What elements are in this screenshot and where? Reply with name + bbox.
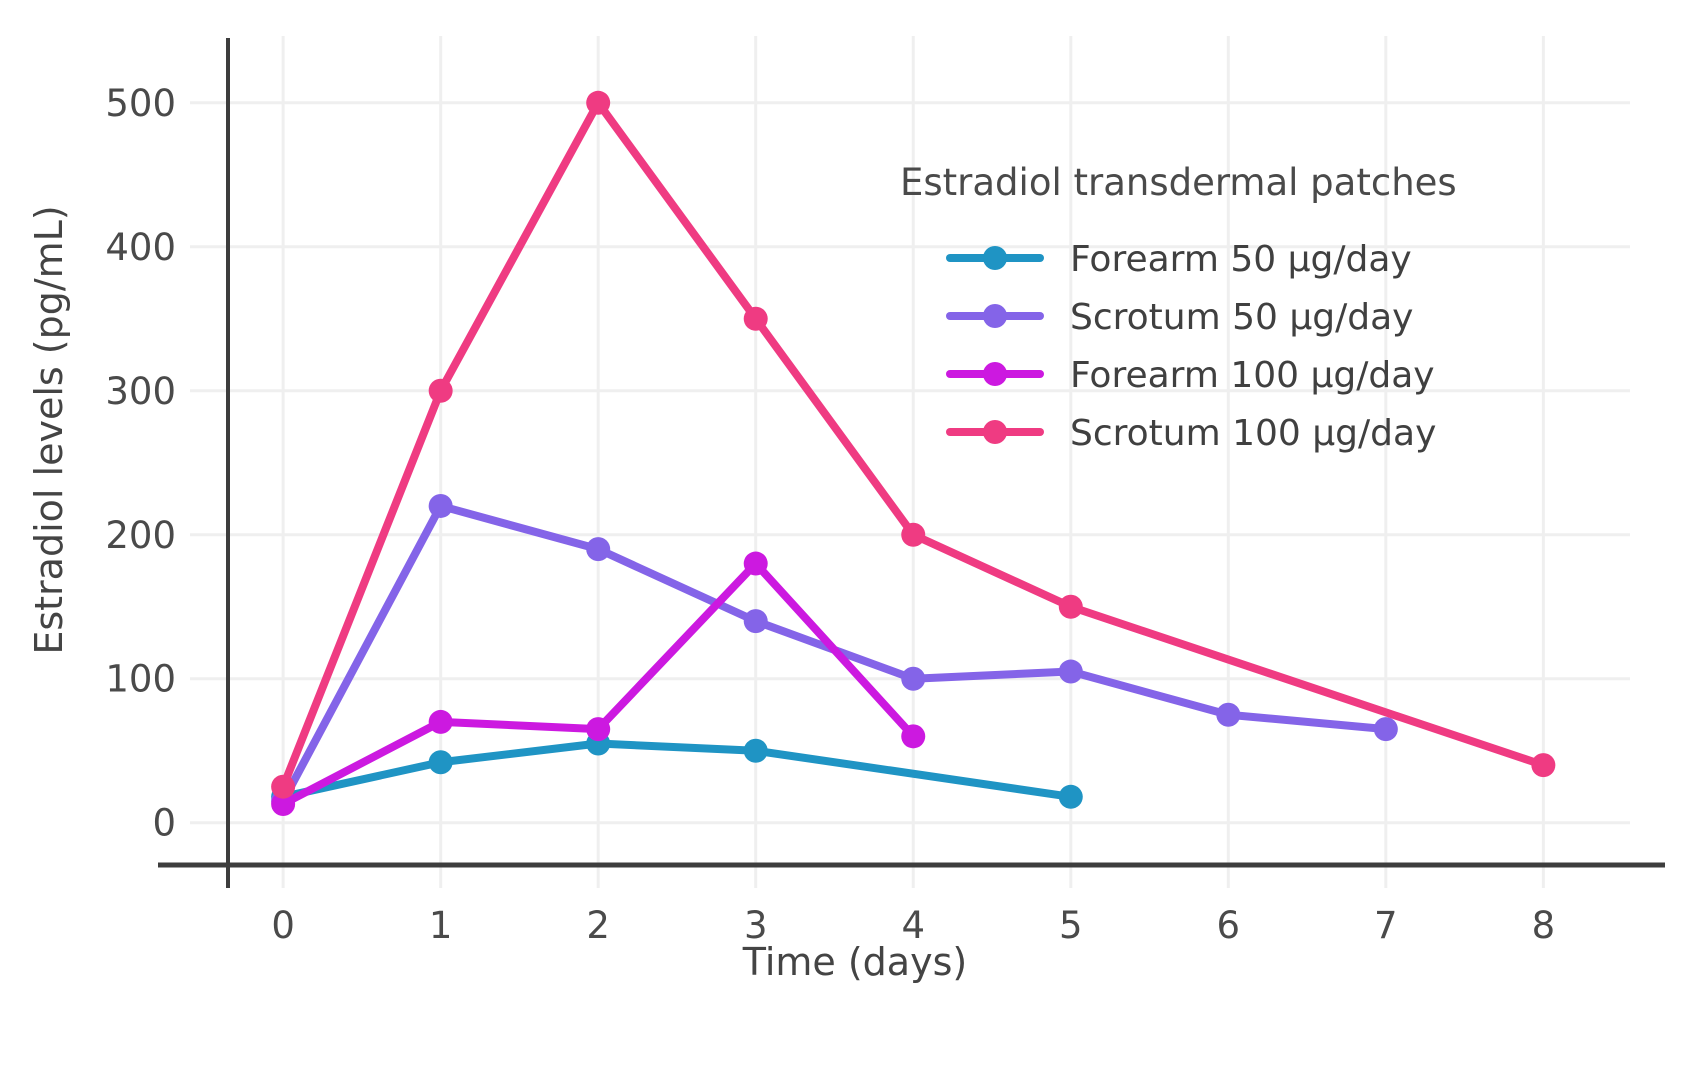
x-tick-label: 8 bbox=[1532, 904, 1556, 947]
data-point[interactable] bbox=[429, 710, 453, 734]
data-point[interactable] bbox=[1531, 753, 1555, 777]
data-point[interactable] bbox=[1216, 703, 1240, 727]
chart-figure: 0100200300400500 012345678 Estradiol lev… bbox=[0, 0, 1681, 1090]
data-point[interactable] bbox=[1374, 717, 1398, 741]
data-point[interactable] bbox=[586, 537, 610, 561]
legend-label[interactable]: Forearm 50 µg/day bbox=[1070, 239, 1412, 280]
legend: Estradiol transdermal patches Forearm 50… bbox=[900, 161, 1457, 454]
data-point[interactable] bbox=[586, 717, 610, 741]
y-tick-label: 0 bbox=[152, 802, 176, 845]
data-point[interactable] bbox=[429, 750, 453, 774]
data-point[interactable] bbox=[744, 552, 768, 576]
legend-swatch-marker bbox=[983, 420, 1007, 444]
y-tick-label: 300 bbox=[105, 370, 176, 413]
y-tick-label: 500 bbox=[105, 82, 176, 125]
legend-label[interactable]: Forearm 100 µg/day bbox=[1070, 355, 1435, 396]
data-point[interactable] bbox=[901, 667, 925, 691]
legend-swatch-marker bbox=[983, 362, 1007, 386]
legend-label[interactable]: Scrotum 100 µg/day bbox=[1070, 413, 1436, 454]
y-tick-label: 100 bbox=[105, 658, 176, 701]
y-axis-title: Estradiol levels (pg/mL) bbox=[27, 205, 71, 654]
x-axis-title: Time (days) bbox=[742, 940, 967, 984]
data-point[interactable] bbox=[271, 775, 295, 799]
y-tick-label: 200 bbox=[105, 514, 176, 557]
data-point[interactable] bbox=[1059, 660, 1083, 684]
legend-swatch-marker bbox=[983, 246, 1007, 270]
data-point[interactable] bbox=[744, 307, 768, 331]
y-tick-labels: 0100200300400500 bbox=[105, 82, 176, 845]
series-line bbox=[283, 744, 1071, 797]
x-tick-label: 2 bbox=[586, 904, 610, 947]
data-point[interactable] bbox=[744, 609, 768, 633]
x-tick-label: 1 bbox=[429, 904, 453, 947]
data-point[interactable] bbox=[901, 523, 925, 547]
y-tick-label: 400 bbox=[105, 226, 176, 269]
x-tick-label: 5 bbox=[1059, 904, 1083, 947]
x-tick-label: 6 bbox=[1217, 904, 1241, 947]
data-point[interactable] bbox=[586, 91, 610, 115]
data-point[interactable] bbox=[429, 494, 453, 518]
line-chart-canvas: 0100200300400500 012345678 Estradiol lev… bbox=[0, 0, 1681, 1090]
data-point[interactable] bbox=[901, 724, 925, 748]
legend-label[interactable]: Scrotum 50 µg/day bbox=[1070, 297, 1413, 338]
data-point[interactable] bbox=[1059, 785, 1083, 809]
legend-swatch-marker bbox=[983, 304, 1007, 328]
x-tick-label: 7 bbox=[1374, 904, 1398, 947]
data-point[interactable] bbox=[744, 739, 768, 763]
data-point[interactable] bbox=[429, 379, 453, 403]
legend-title: Estradiol transdermal patches bbox=[900, 161, 1457, 204]
data-point[interactable] bbox=[1059, 595, 1083, 619]
x-tick-label: 0 bbox=[271, 904, 295, 947]
